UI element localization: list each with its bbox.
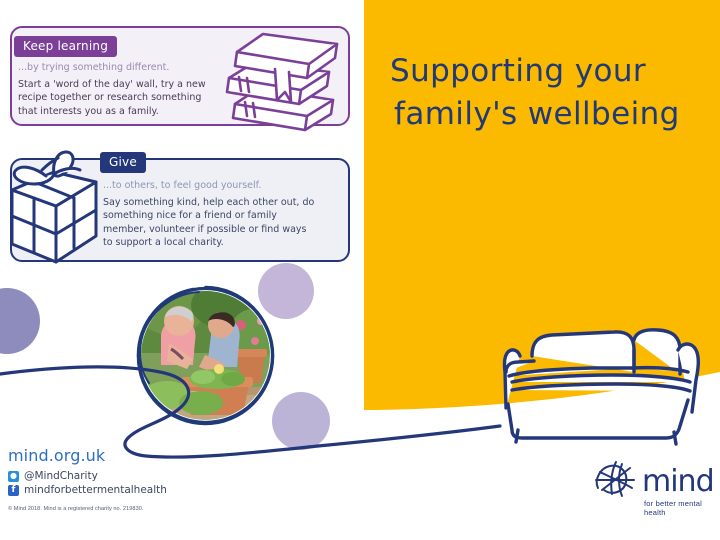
- mind-tagline: for better mental health: [644, 499, 712, 517]
- twitter-icon: ●: [8, 471, 19, 482]
- card-subtitle-give: ...to others, to feel good yourself.: [103, 180, 261, 191]
- facebook-handle: mindforbettermentalhealth: [24, 484, 167, 496]
- card-body-give: Say something kind, help each other out,…: [103, 196, 318, 250]
- decorative-circle-left: [0, 288, 40, 354]
- poster-page: Supporting your family's wellbeing: [0, 0, 720, 540]
- facebook-link[interactable]: f mindforbettermentalhealth: [8, 484, 167, 496]
- twitter-link[interactable]: ● @MindCharity: [8, 470, 98, 482]
- mind-wordmark: mind: [642, 464, 714, 499]
- copyright-notice: © Mind 2018. Mind is a registered charit…: [8, 506, 144, 512]
- decorative-squiggle: [0, 350, 720, 460]
- twitter-handle: @MindCharity: [24, 470, 98, 482]
- facebook-icon: f: [8, 485, 19, 496]
- books-icon: [215, 26, 345, 134]
- card-body-keep-learning: Start a 'word of the day' wall, try a ne…: [18, 78, 218, 118]
- gift-box-icon: [2, 148, 110, 266]
- mind-logo: mind for better mental health: [592, 458, 712, 516]
- page-title: Supporting your family's wellbeing: [390, 50, 710, 136]
- headline-line-1: Supporting your: [390, 53, 646, 89]
- card-subtitle-keep-learning: ...by trying something different.: [18, 62, 169, 73]
- mind-scribble-icon: [592, 458, 640, 502]
- badge-keep-learning: Keep learning: [14, 36, 117, 57]
- website-url[interactable]: mind.org.uk: [8, 446, 105, 465]
- headline-line-2: family's wellbeing: [394, 93, 710, 136]
